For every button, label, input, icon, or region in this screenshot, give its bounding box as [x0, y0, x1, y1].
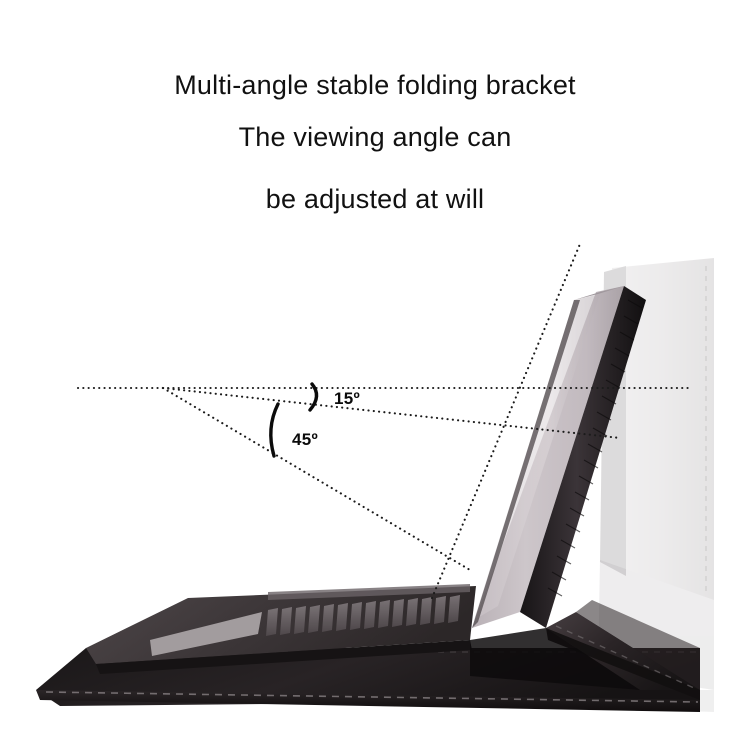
product-photo — [0, 0, 750, 750]
angle-label-15: 15º — [334, 389, 360, 409]
headline-line-2: The viewing angle can — [0, 122, 750, 153]
product-marketing-image: 15º 45º Multi-angle stable folding brack… — [0, 0, 750, 750]
headline-line-3: be adjusted at will — [0, 184, 750, 215]
headline-line-1: Multi-angle stable folding bracket — [0, 70, 750, 101]
angle-label-45: 45º — [292, 430, 318, 450]
